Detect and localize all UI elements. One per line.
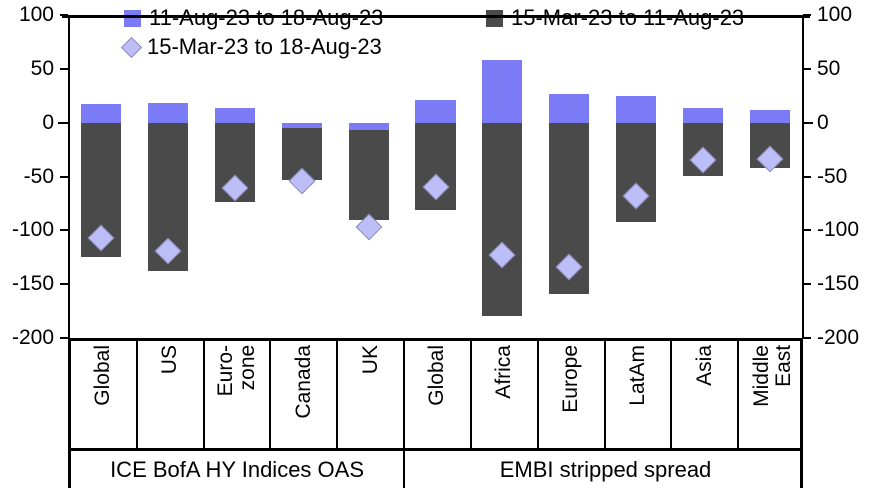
bar-segment-prior — [482, 123, 522, 317]
y-axis-label-left: 100 — [19, 4, 54, 25]
y-tick-left — [60, 176, 68, 178]
y-tick-right — [803, 337, 811, 339]
y-axis-label-right: -200 — [817, 327, 859, 348]
category-label: Global — [92, 341, 114, 406]
category-cell: US — [138, 341, 205, 451]
bar-segment-weekly — [683, 108, 723, 123]
zero-baseline — [62, 15, 810, 18]
y-axis-label-left: -150 — [12, 273, 54, 294]
category-label: US — [159, 341, 181, 374]
y-axis-label-left: 0 — [42, 112, 54, 133]
bar-segment-weekly — [215, 108, 255, 123]
y-tick-left — [60, 229, 68, 231]
category-cell: Africa — [472, 341, 539, 451]
y-tick-right — [803, 229, 811, 231]
y-tick-right — [803, 176, 811, 178]
group-label: ICE BofA HY Indices OAS — [71, 451, 405, 488]
plot-area: 100500-50-100-150-200 100500-50-100-150-… — [68, 15, 803, 338]
y-tick-left — [60, 68, 68, 70]
category-label: Euro- zone — [215, 341, 259, 396]
y-axis-label-right: 50 — [817, 58, 840, 79]
group-axis: ICE BofA HY Indices OASEMBI stripped spr… — [68, 448, 803, 488]
category-label: Middle East — [751, 341, 795, 407]
bar-segment-weekly — [81, 104, 121, 122]
y-tick-right — [803, 283, 811, 285]
y-tick-left — [60, 14, 68, 16]
y-tick-left — [60, 337, 68, 339]
category-cell: UK — [338, 341, 405, 451]
bar-segment-weekly — [750, 110, 790, 123]
bar-segment-weekly — [549, 94, 589, 123]
category-cell: Euro- zone — [205, 341, 272, 451]
category-cell: Global — [405, 341, 472, 451]
bar-segment-weekly — [349, 123, 389, 131]
y-tick-left — [60, 283, 68, 285]
category-axis: GlobalUSEuro- zoneCanadaUKGlobalAfricaEu… — [68, 338, 803, 448]
bar-segment-weekly — [282, 123, 322, 128]
category-label: Africa — [493, 341, 515, 399]
y-tick-right — [803, 122, 813, 124]
y-tick-right — [803, 14, 811, 16]
y-axis-label-left: -50 — [24, 166, 54, 187]
y-axis-label-left: -100 — [12, 219, 54, 240]
y-axis-label-right: -100 — [817, 219, 859, 240]
bar-segment-weekly — [482, 60, 522, 122]
y-axis-label-left: -200 — [12, 327, 54, 348]
y-tick-left — [58, 122, 68, 124]
category-label: Global — [426, 341, 448, 406]
y-axis-label-left: 50 — [31, 58, 54, 79]
bars-layer — [68, 15, 803, 338]
y-axis-label-right: -150 — [817, 273, 859, 294]
category-label: UK — [360, 341, 382, 374]
chart-container: 11-Aug-23 to 18-Aug-23 15-Mar-23 to 11-A… — [0, 0, 871, 490]
category-cell: LatAm — [606, 341, 673, 451]
category-label: Canada — [293, 341, 315, 419]
bar-segment-weekly — [616, 96, 656, 123]
category-label: LatAm — [627, 341, 649, 406]
category-cell: Europe — [539, 341, 606, 451]
bar-segment-weekly — [148, 103, 188, 122]
category-cell: Canada — [271, 341, 338, 451]
category-cell: Asia — [672, 341, 739, 451]
category-label: Asia — [694, 341, 716, 386]
y-axis-label-right: 100 — [817, 4, 852, 25]
category-cell: Middle East — [739, 341, 806, 451]
category-label: Europe — [560, 341, 582, 413]
bar-segment-weekly — [415, 100, 455, 123]
y-tick-right — [803, 68, 811, 70]
category-cell: Global — [71, 341, 138, 451]
y-axis-label-right: -50 — [817, 166, 847, 187]
bar-segment-prior — [349, 123, 389, 220]
group-label: EMBI stripped spread — [405, 451, 806, 488]
y-axis-label-right: 0 — [817, 112, 829, 133]
